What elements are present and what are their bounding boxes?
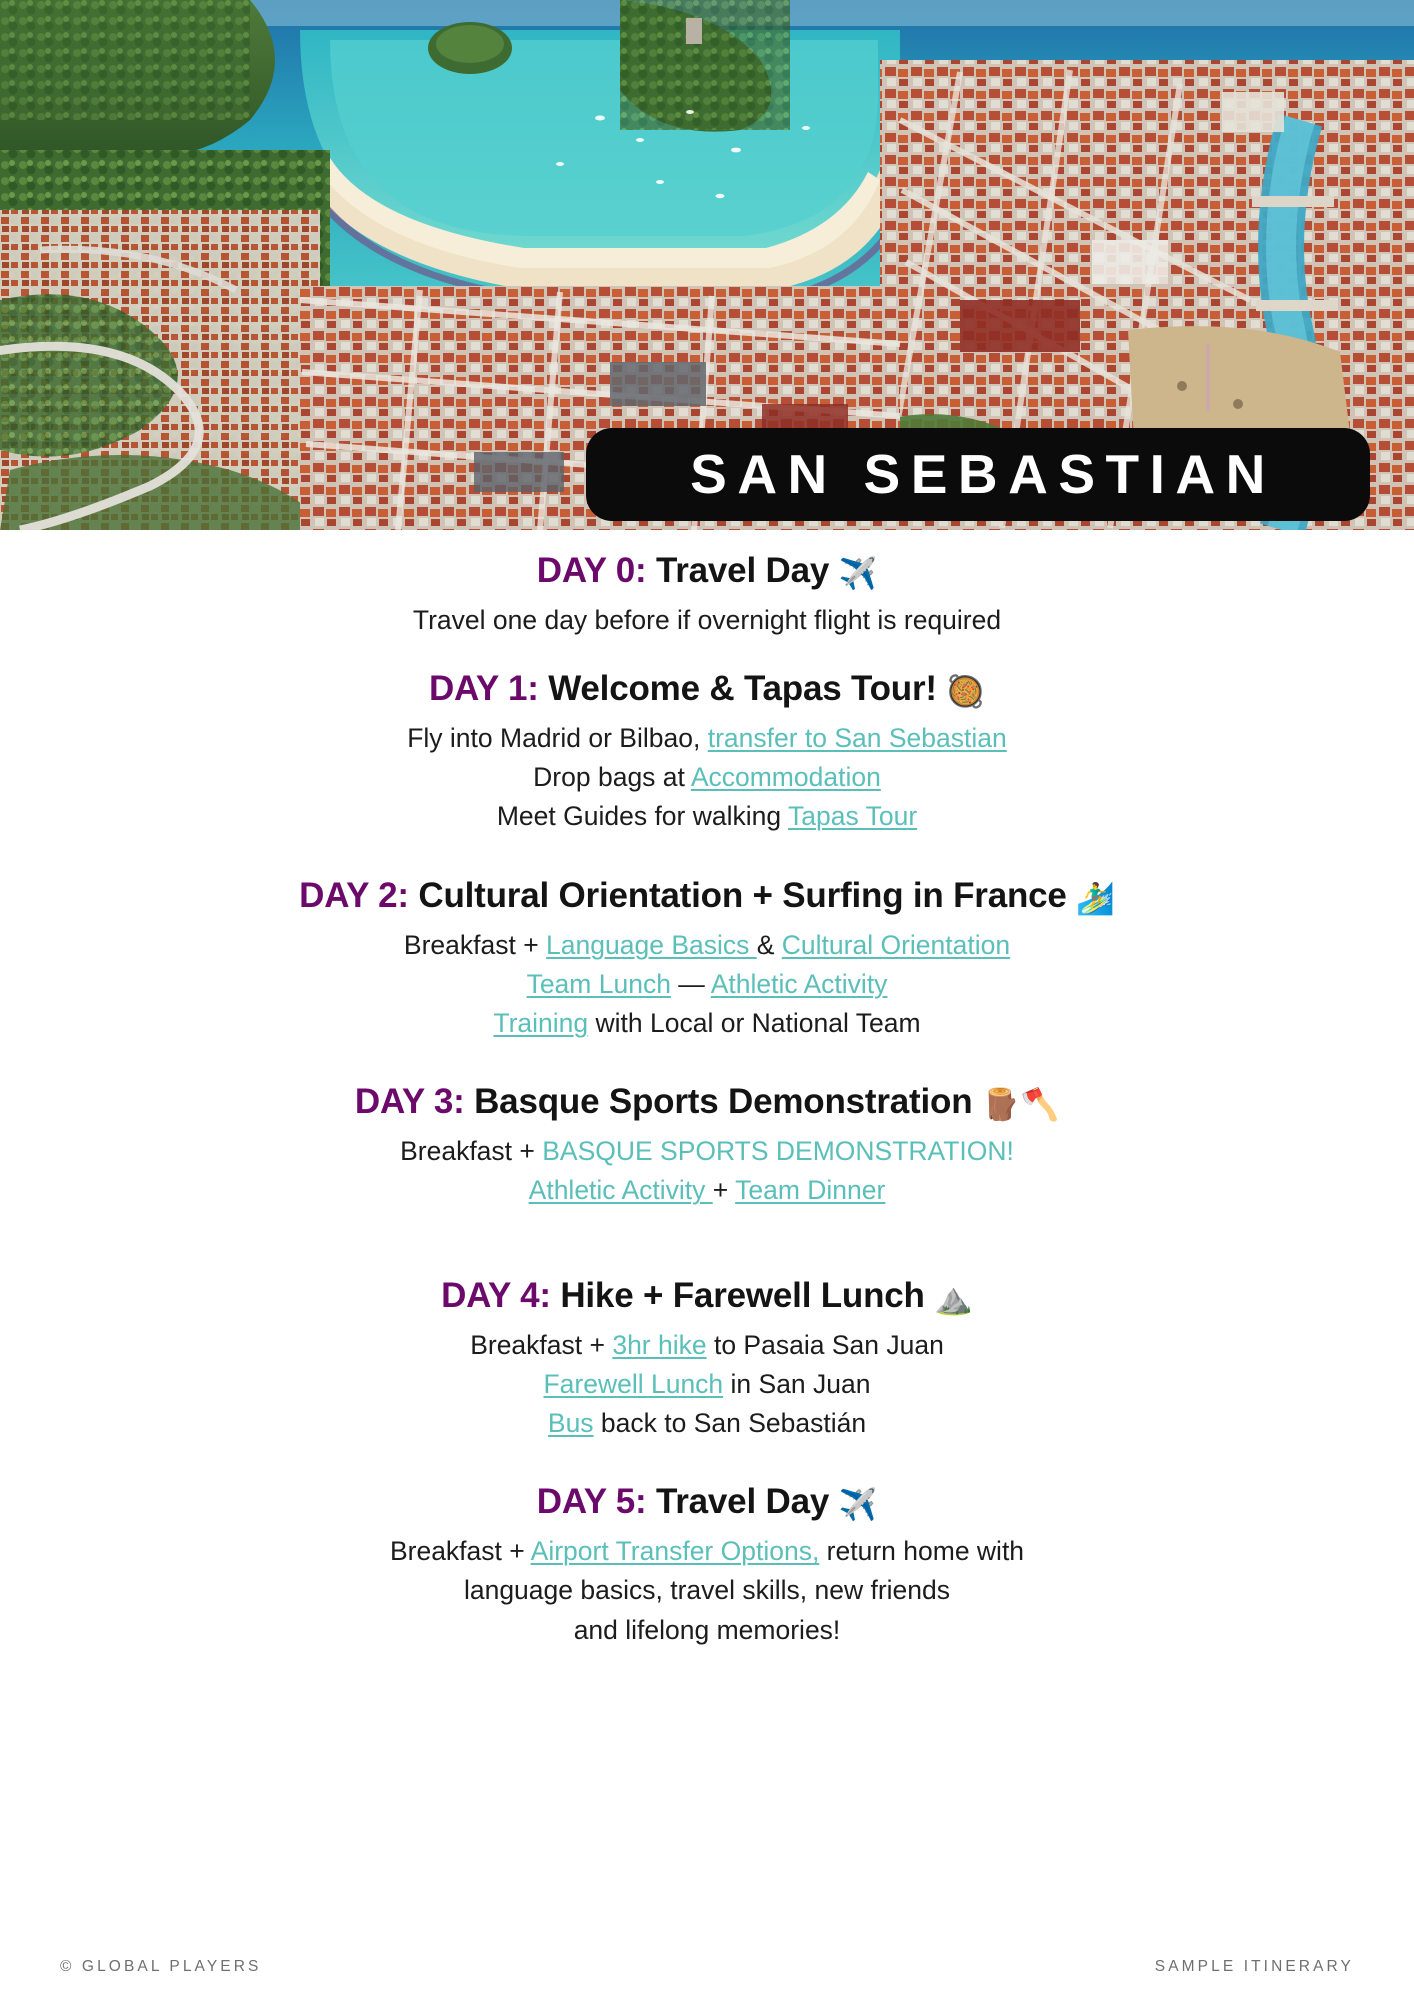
itinerary-page: SAN SEBASTIAN DAY 0: Travel Day ✈️Travel… (0, 0, 1414, 2000)
day-heading-1: DAY 1: Welcome & Tapas Tour! 🥘 (60, 666, 1354, 713)
day-label-0: DAY 0: (537, 551, 647, 590)
section-spacer-2 (60, 1053, 1354, 1079)
day-block-1: DAY 1: Welcome & Tapas Tour! 🥘Fly into M… (60, 666, 1354, 837)
link-2-1-0[interactable]: Team Lunch (527, 969, 671, 999)
day-label-3: DAY 3: (355, 1082, 465, 1121)
text-4-0-2: to Pasaia San Juan (707, 1330, 944, 1360)
section-spacer-3 (60, 1221, 1354, 1273)
day-1-line-1: Drop bags at Accommodation (60, 758, 1354, 797)
day-title-4: Hike + Farewell Lunch (551, 1276, 934, 1315)
day-3-line-0: Breakfast + BASQUE SPORTS DEMONSTRATION! (60, 1132, 1354, 1171)
text-2-0-2: & (757, 930, 782, 960)
link-3-1-2[interactable]: Team Dinner (735, 1175, 885, 1205)
link-1-0-1[interactable]: transfer to San Sebastian (708, 723, 1007, 753)
day-title-0: Travel Day (646, 551, 838, 590)
link-2-0-1[interactable]: Language Basics (546, 930, 757, 960)
day-blocks-container: DAY 0: Travel Day ✈️Travel one day befor… (60, 548, 1354, 1650)
day-title-5: Travel Day (646, 1482, 838, 1521)
text-5-0-0: Breakfast + (390, 1536, 531, 1566)
day-block-0: DAY 0: Travel Day ✈️Travel one day befor… (60, 548, 1354, 640)
section-spacer-1 (60, 847, 1354, 873)
highlight-3-0-1: BASQUE SPORTS DEMONSTRATION! (542, 1136, 1014, 1166)
day-4-line-1: Farewell Lunch in San Juan (60, 1365, 1354, 1404)
text-1-2-0: Meet Guides for walking (497, 801, 788, 831)
day-title-2: Cultural Orientation + Surfing in France (409, 876, 1076, 915)
day-5-line-2: and lifelong memories! (60, 1611, 1354, 1650)
text-1-0-0: Fly into Madrid or Bilbao, (407, 723, 707, 753)
day-5-line-1: language basics, travel skills, new frie… (60, 1571, 1354, 1610)
day-4-line-0: Breakfast + 3hr hike to Pasaia San Juan (60, 1326, 1354, 1365)
wood-and-axe-emoji: 🪵🪓 (982, 1087, 1059, 1123)
text-1-1-0: Drop bags at (533, 762, 691, 792)
paella-emoji: 🥘 (946, 674, 985, 710)
day-1-line-2: Meet Guides for walking Tapas Tour (60, 797, 1354, 836)
day-label-1: DAY 1: (429, 669, 539, 708)
link-2-0-3[interactable]: Cultural Orientation (782, 930, 1010, 960)
day-1-line-0: Fly into Madrid or Bilbao, transfer to S… (60, 719, 1354, 758)
day-block-5: DAY 5: Travel Day ✈️Breakfast + Airport … (60, 1479, 1354, 1650)
footer-label: SAMPLE ITINERARY (1155, 1958, 1354, 1976)
day-label-4: DAY 4: (441, 1276, 551, 1315)
text-2-1-1: — (671, 969, 711, 999)
mountain-emoji: ⛰️ (934, 1281, 973, 1317)
text-2-2-1: with Local or National Team (588, 1008, 920, 1038)
day-2-line-2: Training with Local or National Team (60, 1004, 1354, 1043)
text-4-0-0: Breakfast + (470, 1330, 612, 1360)
text-3-0-0: Breakfast + (400, 1136, 542, 1166)
day-heading-4: DAY 4: Hike + Farewell Lunch ⛰️ (60, 1273, 1354, 1320)
text-2-0-0: Breakfast + (404, 930, 546, 960)
link-1-1-1[interactable]: Accommodation (691, 762, 881, 792)
link-4-0-1[interactable]: 3hr hike (612, 1330, 706, 1360)
day-heading-3: DAY 3: Basque Sports Demonstration 🪵🪓 (60, 1079, 1354, 1126)
day-label-5: DAY 5: (537, 1482, 647, 1521)
day-2-line-0: Breakfast + Language Basics & Cultural O… (60, 926, 1354, 965)
link-4-1-0[interactable]: Farewell Lunch (543, 1369, 723, 1399)
day-heading-0: DAY 0: Travel Day ✈️ (60, 548, 1354, 595)
text-5-1-0: language basics, travel skills, new frie… (464, 1575, 950, 1605)
link-4-2-0[interactable]: Bus (548, 1408, 594, 1438)
airplane-emoji: ✈️ (839, 1487, 878, 1523)
link-1-2-1[interactable]: Tapas Tour (788, 801, 917, 831)
text-4-2-1: back to San Sebastián (594, 1408, 867, 1438)
link-5-0-1[interactable]: Airport Transfer Options, (531, 1536, 820, 1566)
day-title-3: Basque Sports Demonstration (465, 1082, 982, 1121)
link-2-2-0[interactable]: Training (493, 1008, 588, 1038)
day-0-line-0: Travel one day before if overnight fligh… (60, 601, 1354, 640)
section-spacer-0 (60, 650, 1354, 666)
airplane-emoji: ✈️ (839, 556, 878, 592)
text-5-0-2: return home with (819, 1536, 1024, 1566)
day-heading-5: DAY 5: Travel Day ✈️ (60, 1479, 1354, 1526)
day-5-line-0: Breakfast + Airport Transfer Options, re… (60, 1532, 1354, 1571)
day-label-2: DAY 2: (299, 876, 409, 915)
city-title-banner: SAN SEBASTIAN (586, 428, 1370, 521)
page-footer: © GLOBAL PLAYERS SAMPLE ITINERARY (60, 1958, 1354, 1976)
itinerary-content: DAY 0: Travel Day ✈️Travel one day befor… (0, 530, 1414, 2000)
day-3-line-1: Athletic Activity + Team Dinner (60, 1171, 1354, 1210)
link-3-1-0[interactable]: Athletic Activity (529, 1175, 713, 1205)
day-title-1: Welcome & Tapas Tour! (539, 669, 947, 708)
text-3-1-1: + (713, 1175, 735, 1205)
day-4-line-2: Bus back to San Sebastián (60, 1404, 1354, 1443)
text-0-0-0: Travel one day before if overnight fligh… (413, 605, 1001, 635)
day-heading-2: DAY 2: Cultural Orientation + Surfing in… (60, 873, 1354, 920)
link-2-1-2[interactable]: Athletic Activity (711, 969, 888, 999)
day-2-line-1: Team Lunch — Athletic Activity (60, 965, 1354, 1004)
footer-copyright: © GLOBAL PLAYERS (60, 1958, 261, 1976)
day-block-4: DAY 4: Hike + Farewell Lunch ⛰️Breakfast… (60, 1273, 1354, 1444)
man-surfing-emoji: 🏄‍♂️ (1076, 881, 1115, 917)
day-block-3: DAY 3: Basque Sports Demonstration 🪵🪓Bre… (60, 1079, 1354, 1210)
text-5-2-0: and lifelong memories! (574, 1615, 841, 1645)
day-block-2: DAY 2: Cultural Orientation + Surfing in… (60, 873, 1354, 1044)
hero-photo: SAN SEBASTIAN (0, 0, 1414, 530)
text-4-1-1: in San Juan (723, 1369, 870, 1399)
section-spacer-4 (60, 1453, 1354, 1479)
page-title: SAN SEBASTIAN (680, 447, 1276, 502)
